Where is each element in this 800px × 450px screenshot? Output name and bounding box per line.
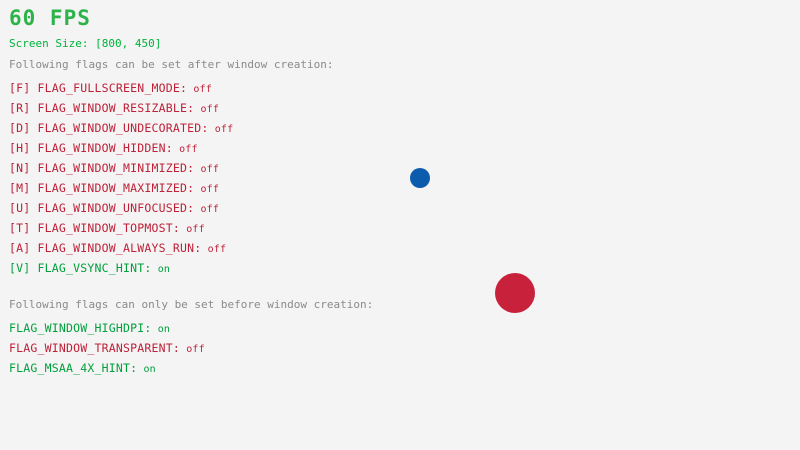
flag-label: FLAG_WINDOW_TOPMOST: (38, 221, 180, 235)
flag-row[interactable]: [A] FLAG_WINDOW_ALWAYS_RUN: off (9, 237, 233, 257)
flag-row[interactable]: [R] FLAG_WINDOW_RESIZABLE: off (9, 97, 233, 117)
flag-label: FLAG_WINDOW_TRANSPARENT: (9, 341, 180, 355)
flag-value: off (173, 144, 198, 155)
flag-key: [U] (9, 201, 38, 215)
flag-value: off (187, 84, 212, 95)
flag-label: FLAG_WINDOW_RESIZABLE: (38, 101, 195, 115)
flag-row[interactable]: [V] FLAG_VSYNC_HINT: on (9, 257, 233, 277)
flag-label: FLAG_WINDOW_ALWAYS_RUN: (38, 241, 202, 255)
raylib-window-flags-demo: 60 FPS Screen Size: [800, 450] Following… (0, 0, 800, 450)
flag-value: off (180, 344, 205, 355)
flag-value: on (151, 264, 170, 275)
blue-ball (410, 168, 430, 188)
before-creation-flag-list: FLAG_WINDOW_HIGHDPI: onFLAG_WINDOW_TRANS… (9, 317, 205, 377)
flag-label: FLAG_FULLSCREEN_MODE: (38, 81, 188, 95)
flag-value: off (194, 204, 219, 215)
flag-value: on (151, 324, 170, 335)
flag-row[interactable]: [N] FLAG_WINDOW_MINIMIZED: off (9, 157, 233, 177)
flag-label: FLAG_MSAA_4X_HINT: (9, 361, 137, 375)
before-creation-section-header: Following flags can only be set before w… (9, 298, 373, 311)
flag-key: [D] (9, 121, 38, 135)
red-ball (495, 273, 535, 313)
flag-key: [M] (9, 181, 38, 195)
flag-key: [R] (9, 101, 38, 115)
flag-label: FLAG_WINDOW_UNFOCUSED: (38, 201, 195, 215)
screen-size-label: Screen Size: [800, 450] (9, 37, 161, 50)
flag-row[interactable]: [F] FLAG_FULLSCREEN_MODE: off (9, 77, 233, 97)
flag-key: [N] (9, 161, 38, 175)
flag-value: off (201, 244, 226, 255)
flag-label: FLAG_WINDOW_MAXIMIZED: (38, 181, 195, 195)
flag-label: FLAG_WINDOW_MINIMIZED: (38, 161, 195, 175)
flag-key: [F] (9, 81, 38, 95)
flag-key: [T] (9, 221, 38, 235)
flag-value: off (180, 224, 205, 235)
flag-value: off (208, 124, 233, 135)
flag-row: FLAG_MSAA_4X_HINT: on (9, 357, 205, 377)
flag-row[interactable]: [M] FLAG_WINDOW_MAXIMIZED: off (9, 177, 233, 197)
flag-value: off (194, 164, 219, 175)
flag-row[interactable]: [T] FLAG_WINDOW_TOPMOST: off (9, 217, 233, 237)
flag-key: [V] (9, 261, 38, 275)
flag-value: off (194, 104, 219, 115)
flag-value: off (194, 184, 219, 195)
flag-value: on (137, 364, 156, 375)
flag-label: FLAG_VSYNC_HINT: (38, 261, 152, 275)
flag-row: FLAG_WINDOW_HIGHDPI: on (9, 317, 205, 337)
after-creation-flag-list: [F] FLAG_FULLSCREEN_MODE: off[R] FLAG_WI… (9, 77, 233, 277)
fps-counter: 60 FPS (9, 6, 91, 30)
flag-row: FLAG_WINDOW_TRANSPARENT: off (9, 337, 205, 357)
after-creation-section-header: Following flags can be set after window … (9, 58, 334, 71)
flag-row[interactable]: [H] FLAG_WINDOW_HIDDEN: off (9, 137, 233, 157)
flag-label: FLAG_WINDOW_UNDECORATED: (38, 121, 209, 135)
flag-key: [A] (9, 241, 38, 255)
flag-row[interactable]: [D] FLAG_WINDOW_UNDECORATED: off (9, 117, 233, 137)
flag-label: FLAG_WINDOW_HIGHDPI: (9, 321, 151, 335)
flag-row[interactable]: [U] FLAG_WINDOW_UNFOCUSED: off (9, 197, 233, 217)
flag-label: FLAG_WINDOW_HIDDEN: (38, 141, 173, 155)
flag-key: [H] (9, 141, 38, 155)
